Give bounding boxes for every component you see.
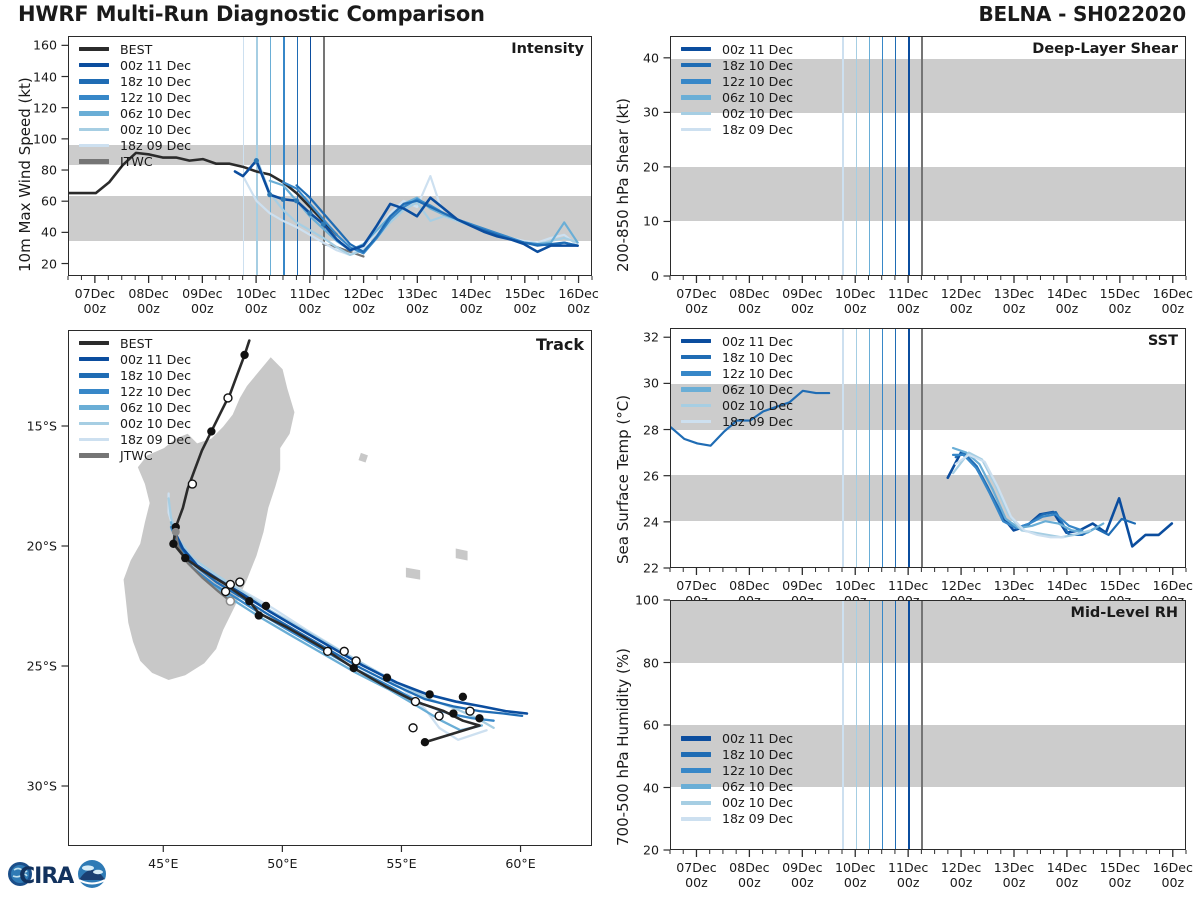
x-axis-tick-label: 12Dec00z: [343, 286, 383, 316]
legend-item[interactable]: 18z 10 Dec: [681, 747, 793, 763]
track-marker-filled: [459, 693, 467, 701]
intensity-y-axis-label: 10m Max Wind Speed (kt): [16, 77, 34, 272]
x-axis-tick-label: 08Dec00z: [729, 860, 769, 890]
legend-swatch-icon: [681, 420, 711, 423]
y-axis-tick-label: 20: [643, 843, 659, 858]
legend-item-label: 06z 10 Dec: [120, 400, 191, 415]
track-x-axis-tick-label: 50°E: [267, 856, 297, 871]
legend-swatch-icon: [79, 373, 109, 378]
legend-item-label: 18z 10 Dec: [722, 350, 793, 365]
legend-item-label: 18z 10 Dec: [120, 74, 191, 89]
track-marker-open: [340, 647, 348, 655]
x-axis-tick-label: 12Dec00z: [941, 860, 981, 890]
legend-item-label: JTWC: [120, 154, 153, 169]
legend-swatch-icon: [79, 144, 109, 147]
legend-item-label: 00z 11 Dec: [722, 731, 793, 746]
track-plot-area: Track BEST00z 11 Dec18z 10 Dec12z 10 Dec…: [68, 330, 592, 846]
legend-swatch-icon: [79, 95, 109, 100]
svg-text:CIRA: CIRA: [19, 864, 74, 889]
track-marker-open: [352, 657, 360, 665]
legend-item-label: 00z 10 Dec: [120, 416, 191, 431]
series-12z-10-dec: [953, 455, 1082, 531]
legend-swatch-icon: [681, 128, 711, 131]
storm-identifier: BELNA - SH022020: [978, 2, 1186, 26]
y-axis-tick-label: 60: [41, 194, 57, 209]
track-y-axis-tick-label: 30°S: [27, 779, 57, 794]
legend-item-label: 00z 10 Dec: [722, 398, 793, 413]
legend-item[interactable]: 00z 11 Dec: [681, 41, 793, 57]
legend-item-label: 18z 09 Dec: [722, 414, 793, 429]
legend-swatch-icon: [681, 817, 711, 820]
legend-item[interactable]: 00z 11 Dec: [681, 333, 793, 349]
x-axis-tick-label: 11Dec00z: [290, 286, 330, 316]
y-axis-tick-label: 20: [41, 256, 57, 271]
x-axis-tick-label: 07Dec00z: [676, 860, 716, 890]
shear-y-axis-label: 200-850 hPa Shear (kt): [614, 98, 632, 272]
legend-item[interactable]: 00z 10 Dec: [79, 121, 191, 137]
intensity-marker: [281, 197, 286, 202]
legend-item[interactable]: JTWC: [79, 154, 191, 170]
track-marker-filled: [245, 597, 253, 605]
legend-swatch-icon: [681, 768, 711, 773]
legend-item-label: 00z 11 Dec: [120, 352, 191, 367]
x-axis-tick-label: 14Dec00z: [1047, 860, 1087, 890]
track-marker-open: [411, 698, 419, 706]
legend-swatch-icon: [79, 453, 109, 458]
track-marker-filled: [255, 611, 263, 619]
jtwc-marker-open: [226, 597, 234, 605]
legend-item[interactable]: 06z 10 Dec: [681, 779, 793, 795]
legend-item-label: 12z 10 Dec: [120, 90, 191, 105]
track-marker-open: [324, 647, 332, 655]
rh-panel: Mid-Level RH 00z 11 Dec18z 10 Dec12z 10 …: [670, 600, 1186, 850]
track-marker-open: [466, 707, 474, 715]
y-axis-tick-label: 22: [643, 561, 659, 576]
x-axis-tick-label: 15Dec00z: [1100, 860, 1140, 890]
track-marker-filled: [240, 351, 248, 359]
legend-item[interactable]: 12z 10 Dec: [79, 383, 191, 399]
y-axis-tick-label: 10: [643, 214, 659, 229]
y-axis-tick-label: 100: [635, 593, 659, 608]
legend-swatch-icon: [79, 405, 109, 410]
legend: BEST00z 11 Dec18z 10 Dec12z 10 Dec06z 10…: [79, 335, 191, 464]
rh-plot-area: Mid-Level RH 00z 11 Dec18z 10 Dec12z 10 …: [670, 600, 1186, 850]
x-axis-tick-label: 09Dec00z: [182, 286, 222, 316]
legend-swatch-icon: [681, 801, 711, 804]
legend-item[interactable]: 18z 09 Dec: [79, 432, 191, 448]
x-axis-tick-label: 13Dec00z: [397, 286, 437, 316]
island-landmass: [406, 568, 420, 580]
island-landmass: [358, 453, 367, 463]
legend: 00z 11 Dec18z 10 Dec12z 10 Dec06z 10 Dec…: [681, 730, 793, 827]
legend-swatch-icon: [79, 341, 109, 346]
legend-swatch-icon: [681, 371, 711, 376]
legend-item-label: 00z 11 Dec: [722, 42, 793, 57]
legend-item[interactable]: 12z 10 Dec: [681, 73, 793, 89]
legend-swatch-icon: [79, 159, 109, 164]
legend-item-label: 18z 10 Dec: [722, 747, 793, 762]
y-axis-tick-label: 40: [643, 780, 659, 795]
legend-item-label: 00z 10 Dec: [722, 106, 793, 121]
x-axis-tick-label: 08Dec00z: [128, 286, 168, 316]
track-x-axis-tick-label: 60°E: [505, 856, 535, 871]
x-axis-tick-label: 13Dec00z: [994, 860, 1034, 890]
rh-y-axis-label: 700-500 hPa Humidity (%): [614, 648, 632, 846]
legend-item-label: 18z 09 Dec: [722, 122, 793, 137]
legend-item-label: 12z 10 Dec: [722, 366, 793, 381]
legend-item[interactable]: BEST: [79, 335, 191, 351]
track-x-axis-tick-label: 45°E: [148, 856, 178, 871]
shear-plot-area: Deep-Layer Shear 00z 11 Dec18z 10 Dec12z…: [670, 36, 1186, 276]
track-marker-filled: [475, 714, 483, 722]
track-marker-filled: [262, 602, 270, 610]
series-18z-10-dec: [956, 453, 1135, 535]
legend-item-label: BEST: [120, 336, 152, 351]
x-axis-tick-label: 16Dec00z: [1153, 286, 1193, 316]
legend-item-label: 00z 10 Dec: [120, 122, 191, 137]
legend-swatch-icon: [79, 422, 109, 425]
jtwc-marker-filled: [172, 528, 180, 536]
legend-swatch-icon: [681, 404, 711, 407]
y-axis-tick-label: 40: [643, 50, 659, 65]
y-axis-tick-label: 100: [33, 131, 57, 146]
legend-item[interactable]: 00z 10 Dec: [681, 795, 793, 811]
legend-item-label: 18z 10 Dec: [120, 368, 191, 383]
legend-swatch-icon: [79, 79, 109, 84]
y-axis-tick-label: 80: [41, 163, 57, 178]
legend-item[interactable]: 18z 09 Dec: [681, 121, 793, 137]
x-axis-tick-label: 11Dec00z: [888, 860, 928, 890]
x-axis-tick-label: 09Dec00z: [782, 286, 822, 316]
sst-panel-title: SST: [1148, 333, 1178, 349]
legend-item-label: 18z 09 Dec: [722, 811, 793, 826]
legend-item[interactable]: 06z 10 Dec: [681, 89, 793, 105]
series-06z-10-dec: [953, 448, 1103, 533]
x-axis-tick-label: 07Dec00z: [75, 286, 115, 316]
legend-item[interactable]: 00z 10 Dec: [681, 397, 793, 413]
y-axis-tick-label: 80: [643, 655, 659, 670]
track-marker-open: [222, 588, 230, 596]
legend: 00z 11 Dec18z 10 Dec12z 10 Dec06z 10 Dec…: [681, 333, 793, 430]
y-axis-tick-label: 30: [643, 105, 659, 120]
legend-item[interactable]: 12z 10 Dec: [681, 763, 793, 779]
legend-item[interactable]: 18z 10 Dec: [79, 367, 191, 383]
track-panel-title: Track: [536, 335, 584, 354]
x-axis-tick-label: 12Dec00z: [941, 286, 981, 316]
legend-swatch-icon: [681, 736, 711, 741]
legend-item[interactable]: 18z 09 Dec: [79, 138, 191, 154]
intensity-marker: [267, 192, 272, 197]
track-marker-filled: [383, 673, 391, 681]
island-landmass: [456, 549, 468, 561]
intensity-panel: Intensity BEST00z 11 Dec18z 10 Dec12z 10…: [68, 36, 592, 276]
legend-item[interactable]: 18z 09 Dec: [681, 413, 793, 429]
x-axis-tick-label: 10Dec00z: [835, 286, 875, 316]
track-marker-filled: [421, 738, 429, 746]
y-axis-tick-label: 60: [643, 718, 659, 733]
legend-item-label: 18z 09 Dec: [120, 432, 191, 447]
legend-item-label: 18z 09 Dec: [120, 138, 191, 153]
legend-item-label: 12z 10 Dec: [120, 384, 191, 399]
legend-item[interactable]: 06z 10 Dec: [79, 105, 191, 121]
legend-swatch-icon: [79, 389, 109, 394]
x-axis-tick-label: 08Dec00z: [729, 286, 769, 316]
x-axis-tick-label: 10Dec00z: [835, 860, 875, 890]
legend-item[interactable]: 18z 10 Dec: [681, 349, 793, 365]
legend-item[interactable]: 18z 10 Dec: [681, 57, 793, 73]
y-axis-tick-label: 30: [643, 376, 659, 391]
y-axis-tick-label: 26: [643, 468, 659, 483]
track-marker-open: [409, 724, 417, 732]
intensity-plot-area: Intensity BEST00z 11 Dec18z 10 Dec12z 10…: [68, 36, 592, 276]
track-marker-open: [236, 578, 244, 586]
legend-item[interactable]: 00z 11 Dec: [681, 730, 793, 746]
legend-swatch-icon: [681, 339, 711, 344]
legend: 00z 11 Dec18z 10 Dec12z 10 Dec06z 10 Dec…: [681, 41, 793, 138]
legend-item[interactable]: 06z 10 Dec: [79, 399, 191, 415]
x-axis-tick-label: 16Dec00z: [558, 286, 598, 316]
legend-item[interactable]: 00z 10 Dec: [681, 105, 793, 121]
x-axis-tick-label: 16Dec00z: [1153, 860, 1193, 890]
legend-item[interactable]: 12z 10 Dec: [681, 365, 793, 381]
legend-item-label: 00z 11 Dec: [120, 58, 191, 73]
legend-swatch-icon: [681, 784, 711, 789]
legend-swatch-icon: [681, 387, 711, 392]
y-axis-tick-label: 160: [33, 38, 57, 53]
legend-item[interactable]: 12z 10 Dec: [79, 89, 191, 105]
legend-swatch-icon: [79, 111, 109, 116]
legend-swatch-icon: [79, 63, 109, 68]
legend-swatch-icon: [79, 128, 109, 131]
intensity-marker: [307, 211, 312, 216]
x-axis-tick-label: 15Dec00z: [505, 286, 545, 316]
legend-item-label: 06z 10 Dec: [722, 90, 793, 105]
track-marker-open: [226, 580, 234, 588]
legend-item-label: JTWC: [120, 448, 153, 463]
y-axis-tick-label: 32: [643, 330, 659, 345]
y-axis-tick-label: 24: [643, 514, 659, 529]
intensity-panel-title: Intensity: [511, 41, 584, 57]
x-axis-tick-label: 13Dec00z: [994, 286, 1034, 316]
x-axis-tick-label: 15Dec00z: [1100, 286, 1140, 316]
legend-swatch-icon: [681, 752, 711, 757]
legend-item-label: 00z 11 Dec: [722, 334, 793, 349]
sst-y-axis-label: Sea Surface Temp (°C): [614, 395, 632, 564]
x-axis-tick-label: 14Dec00z: [451, 286, 491, 316]
legend-item[interactable]: 18z 09 Dec: [681, 811, 793, 827]
legend-swatch-icon: [681, 79, 711, 84]
legend-swatch-icon: [79, 47, 109, 52]
x-axis-tick-label: 10Dec00z: [236, 286, 276, 316]
x-axis-tick-label: 07Dec00z: [676, 286, 716, 316]
legend-swatch-icon: [79, 438, 109, 441]
y-axis-tick-label: 28: [643, 422, 659, 437]
legend-item-label: BEST: [120, 42, 152, 57]
track-panel: Track BEST00z 11 Dec18z 10 Dec12z 10 Dec…: [68, 330, 592, 846]
sst-panel: SST 00z 11 Dec18z 10 Dec12z 10 Dec06z 10…: [670, 328, 1186, 568]
legend-item[interactable]: 00z 10 Dec: [79, 415, 191, 431]
track-marker-filled: [181, 554, 189, 562]
cira-logo: CIRA: [6, 852, 110, 896]
legend-item-label: 00z 10 Dec: [722, 795, 793, 810]
page-title: HWRF Multi-Run Diagnostic Comparison: [18, 2, 485, 26]
x-axis-tick-label: 14Dec00z: [1047, 286, 1087, 316]
legend-item[interactable]: 18z 10 Dec: [79, 73, 191, 89]
legend-swatch-icon: [681, 95, 711, 100]
shear-panel: Deep-Layer Shear 00z 11 Dec18z 10 Dec12z…: [670, 36, 1186, 276]
x-axis-tick-label: 11Dec00z: [888, 286, 928, 316]
legend-item[interactable]: 00z 11 Dec: [79, 57, 191, 73]
track-marker-filled: [169, 540, 177, 548]
legend-swatch-icon: [681, 47, 711, 52]
track-marker-open: [224, 394, 232, 402]
y-axis-tick-label: 0: [651, 269, 659, 284]
track-x-axis-tick-label: 55°E: [386, 856, 416, 871]
legend-item-label: 06z 10 Dec: [120, 106, 191, 121]
y-axis-tick-label: 20: [643, 159, 659, 174]
legend-item-label: 06z 10 Dec: [722, 779, 793, 794]
track-marker-filled: [449, 709, 457, 717]
legend-item-label: 06z 10 Dec: [722, 382, 793, 397]
track-y-axis-tick-label: 20°S: [27, 539, 57, 554]
intensity-marker: [321, 221, 326, 226]
y-axis-tick-label: 140: [33, 69, 57, 84]
rh-panel-title: Mid-Level RH: [1071, 605, 1178, 621]
legend-swatch-icon: [79, 357, 109, 362]
legend-item-label: 12z 10 Dec: [722, 74, 793, 89]
legend-item-label: 12z 10 Dec: [722, 763, 793, 778]
y-axis-tick-label: 40: [41, 225, 57, 240]
track-y-axis-tick-label: 25°S: [27, 659, 57, 674]
legend-item[interactable]: 06z 10 Dec: [681, 381, 793, 397]
legend-item[interactable]: BEST: [79, 41, 191, 57]
legend: BEST00z 11 Dec18z 10 Dec12z 10 Dec06z 10…: [79, 41, 191, 170]
legend-swatch-icon: [681, 355, 711, 360]
x-axis-tick-label: 09Dec00z: [782, 860, 822, 890]
legend-item-label: 18z 10 Dec: [722, 58, 793, 73]
legend-swatch-icon: [681, 63, 711, 68]
track-marker-open: [188, 480, 196, 488]
sst-plot-area: SST 00z 11 Dec18z 10 Dec12z 10 Dec06z 10…: [670, 328, 1186, 568]
track-marker-filled: [425, 690, 433, 698]
track-marker-filled: [207, 427, 215, 435]
track-marker-open: [435, 712, 443, 720]
y-axis-tick-label: 120: [33, 100, 57, 115]
legend-item[interactable]: JTWC: [79, 448, 191, 464]
shear-panel-title: Deep-Layer Shear: [1032, 41, 1178, 57]
intensity-marker: [294, 198, 299, 203]
legend-swatch-icon: [681, 112, 711, 115]
intensity-marker: [254, 158, 259, 163]
track-y-axis-tick-label: 15°S: [27, 419, 57, 434]
legend-item[interactable]: 00z 11 Dec: [79, 351, 191, 367]
